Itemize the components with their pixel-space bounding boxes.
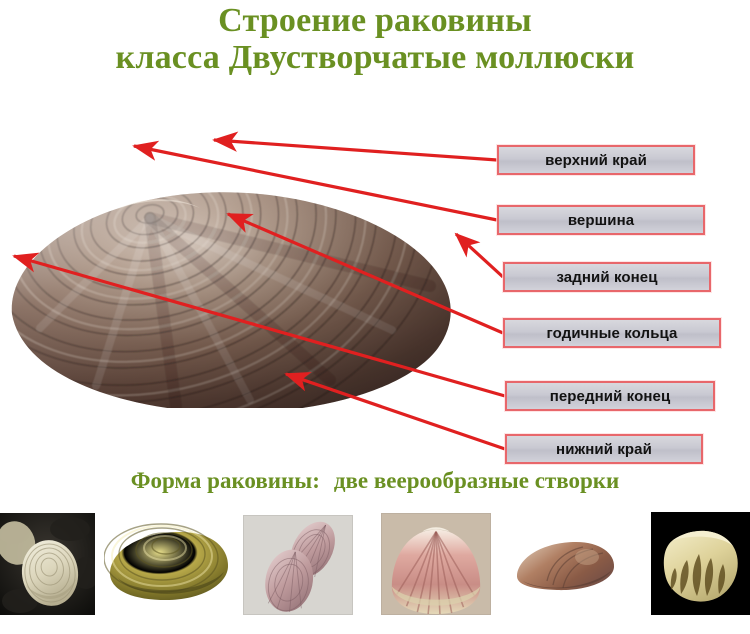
specimen-photo-strip — [0, 510, 750, 630]
label-front-end[interactable]: передний конец — [505, 381, 715, 411]
label-apex-text: вершина — [568, 212, 634, 229]
caption-strong: Форма раковины: — [131, 468, 320, 493]
label-front-end-text: передний конец — [550, 388, 671, 405]
photo-clam-on-rocks — [0, 513, 95, 615]
label-apex[interactable]: вершина — [497, 205, 705, 235]
label-annual-rings[interactable]: годичные кольца — [503, 318, 721, 348]
shell-form-caption: Форма раковины: две веерообразные створк… — [0, 468, 750, 494]
caption-rest: две веерообразные створки — [334, 468, 619, 493]
label-lower-edge[interactable]: нижний край — [505, 434, 703, 464]
label-annual-rings-text: годичные кольца — [547, 325, 678, 342]
photo-pink-pair — [243, 515, 353, 615]
photo-brown-mussel — [513, 535, 618, 597]
photo-green-mussel — [104, 520, 232, 608]
label-upper-edge[interactable]: верхний край — [497, 145, 695, 175]
photo-dark-bg-shell — [651, 512, 750, 615]
shell-illustration — [0, 118, 480, 408]
label-upper-edge-text: верхний край — [545, 152, 647, 169]
label-rear-end[interactable]: задний конец — [503, 262, 711, 292]
diagram-canvas: Строение раковины класса Двустворчатые м… — [0, 0, 750, 634]
page-title: Строение раковины класса Двустворчатые м… — [0, 4, 750, 75]
shell-drawing — [0, 118, 480, 408]
photo-scallop — [381, 513, 491, 615]
shell-body — [0, 118, 480, 408]
label-lower-edge-text: нижний край — [556, 441, 652, 458]
title-line-1: Строение раковины — [0, 4, 750, 39]
label-rear-end-text: задний конец — [556, 269, 657, 286]
title-line-2: класса Двустворчатые моллюски — [0, 41, 750, 76]
